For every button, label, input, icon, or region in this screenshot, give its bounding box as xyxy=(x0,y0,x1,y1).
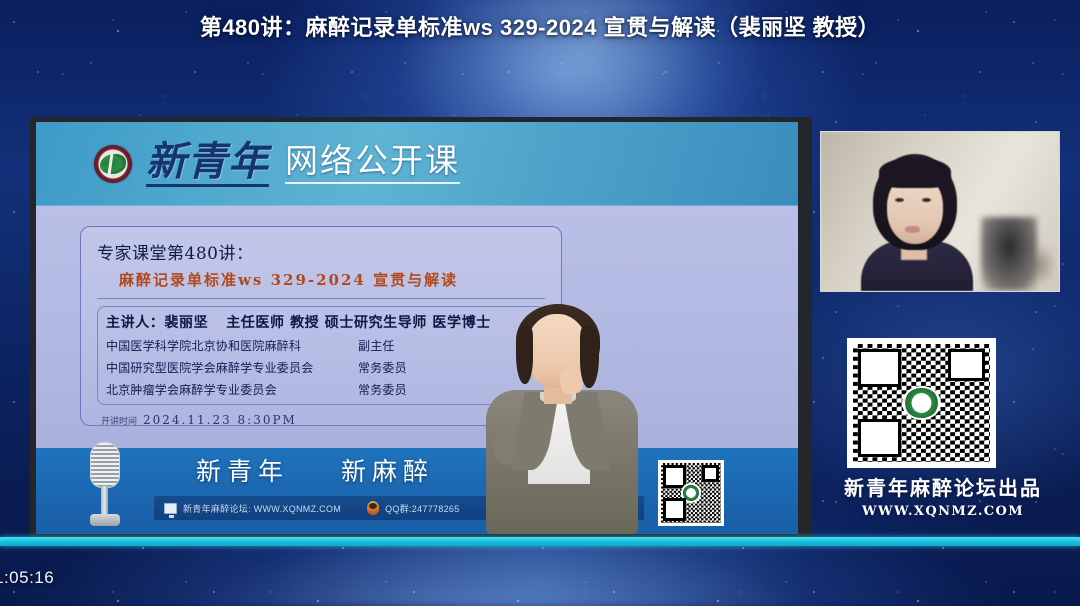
speaker-line: 主讲人：裴丽坚主任医师 教授 硕士研究生导师 医学博士 xyxy=(106,312,536,332)
presentation-slide: 新青年 网络公开课 专家课堂第480讲： 麻醉记录单标准ws 329-2024 … xyxy=(36,122,798,534)
webcam-person-mouth xyxy=(905,226,920,233)
lecture-series-line: 专家课堂第480讲： xyxy=(97,239,545,264)
affiliation-row: 北京肿瘤学会麻醉学专业委员会 常务委员 xyxy=(106,381,536,398)
slide-footer: 新青年 新麻醉 新思想 新青年麻醉论坛: WWW.XQNMZ.COM QQ群:2… xyxy=(36,448,798,534)
live-stream-screen: 第480讲：麻醉记录单标准ws 329-2024 宣贯与解读（裴丽坚 教授） 新… xyxy=(0,0,1080,606)
playback-progress-bar[interactable] xyxy=(0,537,1080,546)
card-divider xyxy=(97,298,545,299)
slide-frame[interactable]: 新青年 网络公开课 专家课堂第480讲： 麻醉记录单标准ws 329-2024 … xyxy=(30,117,812,541)
speaker-name: 主讲人：裴丽坚 xyxy=(106,315,208,331)
forum-link[interactable]: 新青年麻醉论坛: WWW.XQNMZ.COM xyxy=(164,502,341,515)
affiliation-org: 北京肿瘤学会麻醉学专业委员会 xyxy=(106,381,358,398)
qq-group-text: QQ群:247778265 xyxy=(385,502,459,515)
affiliation-org: 中国医学科学院北京协和医院麻醉科 xyxy=(106,337,358,354)
speaker-titles: 主任医师 教授 硕士研究生导师 医学博士 xyxy=(226,315,491,331)
speaker-portrait xyxy=(474,306,650,534)
webcam-person-eye-right xyxy=(922,198,931,202)
producer-caption: 新青年麻醉论坛出品 WWW.XQNMZ.COM xyxy=(820,472,1066,519)
affiliation-role: 常务委员 xyxy=(358,381,407,398)
qq-icon xyxy=(367,501,379,515)
forum-link-text: 新青年麻醉论坛: WWW.XQNMZ.COM xyxy=(183,502,341,515)
presenter-webcam[interactable] xyxy=(820,131,1060,292)
sidebar-qr-code xyxy=(847,338,996,468)
portrait-hair-right xyxy=(580,326,599,388)
slogan-1: 新青年 xyxy=(196,452,289,488)
playback-elapsed-time: 1:05:16 xyxy=(0,568,54,588)
slide-qr-code xyxy=(658,460,724,526)
stream-title-bar: 第480讲：麻醉记录单标准ws 329-2024 宣贯与解读（裴丽坚 教授） xyxy=(0,0,1080,52)
slogan-2: 新麻醉 xyxy=(341,452,434,488)
slide-body: 专家课堂第480讲： 麻醉记录单标准ws 329-2024 宣贯与解读 主讲人：… xyxy=(36,206,798,448)
brand-name: 新青年 xyxy=(146,141,269,187)
affiliation-row: 中国医学科学院北京协和医院麻醉科 副主任 xyxy=(106,337,536,354)
microphone-icon xyxy=(88,442,122,530)
lecture-topic: 麻醉记录单标准ws 329-2024 宣贯与解读 xyxy=(119,269,545,290)
playback-progress-fill xyxy=(0,537,1080,546)
webcam-background-object-2 xyxy=(1025,245,1055,285)
start-time-label: 开讲时间 xyxy=(101,417,137,427)
producer-name: 新青年麻醉论坛出品 xyxy=(820,472,1066,501)
monitor-icon xyxy=(164,503,177,514)
start-time-value: 2024.11.23 8:30PM xyxy=(143,413,297,427)
qq-group-link[interactable]: QQ群:247778265 xyxy=(367,501,459,515)
webcam-person-bangs xyxy=(879,158,951,188)
producer-url: WWW.XQNMZ.COM xyxy=(820,504,1066,519)
page-title: 第480讲：麻醉记录单标准ws 329-2024 宣贯与解读（裴丽坚 教授） xyxy=(200,10,880,42)
portrait-hair-left xyxy=(516,326,533,384)
slide-header: 新青年 网络公开课 xyxy=(36,122,798,206)
affiliation-role: 常务委员 xyxy=(358,359,407,376)
webcam-person-eye-left xyxy=(895,198,904,202)
xqnmz-emblem-icon xyxy=(94,145,132,183)
affiliation-row: 中国研究型医院学会麻醉学专业委员会 常务委员 xyxy=(106,359,536,376)
brand-subtitle: 网络公开课 xyxy=(285,143,460,183)
affiliation-role: 副主任 xyxy=(358,337,395,354)
affiliation-org: 中国研究型医院学会麻醉学专业委员会 xyxy=(106,359,358,376)
